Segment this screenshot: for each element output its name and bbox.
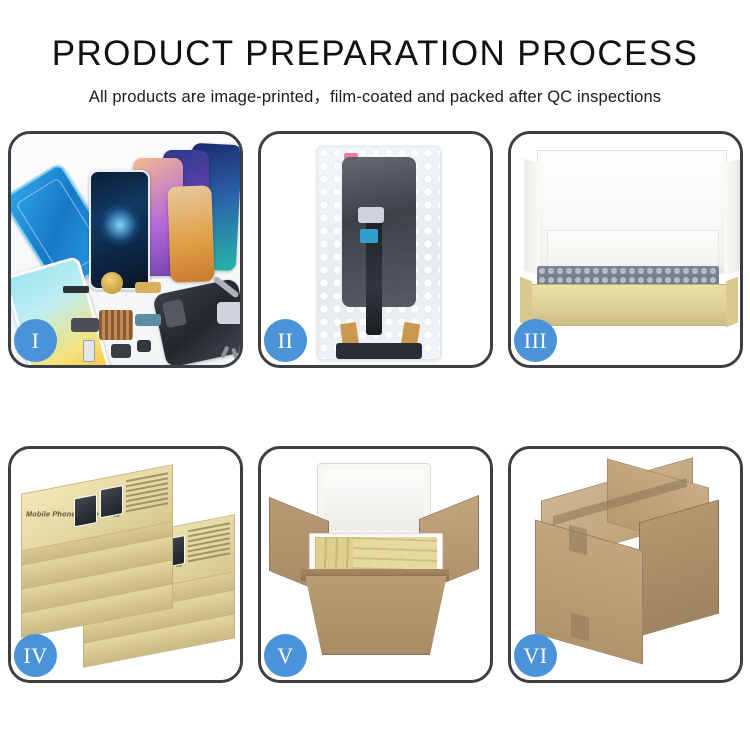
flex-cable-dark-icon	[71, 318, 99, 332]
phone-thumbnail-icon	[74, 494, 97, 527]
tempered-glass-screen-icon	[89, 170, 150, 290]
earpiece-bar-icon	[63, 286, 89, 293]
page-header: PRODUCT PREPARATION PROCESS All products…	[0, 0, 750, 107]
flex-cable-gold-icon	[135, 282, 161, 293]
spec-text-lines	[188, 522, 230, 566]
phone-thumbnail-icon	[100, 485, 123, 518]
process-step-card-6: VI	[508, 446, 743, 683]
carton-body-icon	[305, 575, 447, 655]
button-strip-icon	[83, 340, 95, 362]
process-step-card-1: I	[8, 131, 243, 368]
bubble-wrap-bag-icon	[317, 146, 441, 360]
process-step-card-3: III	[508, 131, 743, 368]
flex-cable-blue-icon	[135, 314, 161, 326]
page-title: PRODUCT PREPARATION PROCESS	[0, 34, 750, 74]
lcd-connector-icon	[358, 207, 384, 223]
tool-block-icon	[217, 302, 240, 324]
step-badge-6: VI	[514, 634, 557, 677]
speaker-coil-icon	[101, 272, 123, 294]
page-subtitle: All products are image-printed，film-coat…	[0, 83, 750, 107]
lcd-connector-blue-icon	[360, 229, 378, 243]
process-step-grid: I II III	[8, 131, 744, 683]
camera-module-icon	[137, 340, 151, 352]
kraft-box-base-icon	[529, 284, 729, 326]
step-badge-2: II	[264, 319, 307, 362]
carton-side-face-icon	[639, 500, 719, 637]
step-badge-4: IV	[14, 634, 57, 677]
carton-tab-icon	[569, 524, 587, 555]
step-badge-3: III	[514, 319, 557, 362]
carton-tab-icon	[571, 612, 589, 641]
lcd-bottom-bezel-icon	[336, 343, 422, 359]
chip-grid-icon	[99, 310, 133, 340]
process-step-card-2: II	[258, 131, 493, 368]
foam-lid-icon	[317, 463, 431, 535]
speaker-module-icon	[111, 344, 131, 358]
step-badge-5: V	[264, 634, 307, 677]
process-step-card-5: V	[258, 446, 493, 683]
phone-gold-icon	[167, 185, 214, 282]
step-badge-1: I	[14, 319, 57, 362]
process-step-card-4: Mobile Phone Spare Parts Mobile Phone Sp…	[8, 446, 243, 683]
spec-text-lines	[126, 472, 168, 516]
